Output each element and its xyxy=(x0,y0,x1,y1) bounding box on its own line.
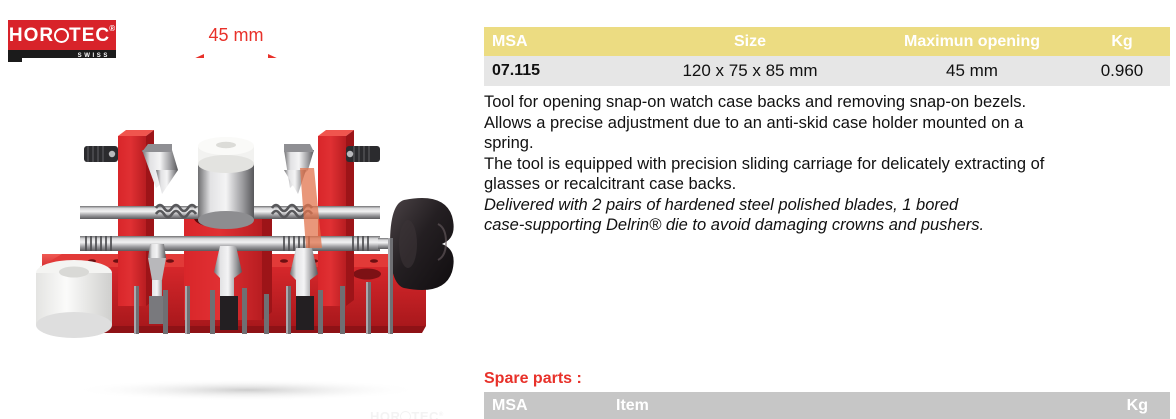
logo-red-plate: HORTEC® xyxy=(8,20,116,50)
spec-cell-kg: 0.960 xyxy=(1074,56,1170,86)
logo-wordmark: HORTEC® xyxy=(9,26,115,45)
spare-header-item: Item xyxy=(608,392,1048,419)
photo-logo-text-tec: TEC xyxy=(411,409,439,419)
description-line: The tool is equipped with precision slid… xyxy=(484,154,1170,175)
logo-text-tec: TEC xyxy=(69,25,110,46)
description-line: Tool for opening snap-on watch case back… xyxy=(484,92,1170,113)
logo-o-ring-icon xyxy=(54,28,69,43)
product-datasheet-page: HORTEC® SWISS 45 mm xyxy=(0,0,1176,419)
description-italic-line: Delivered with 2 pairs of hardened steel… xyxy=(484,195,1170,216)
spare-parts-title: Spare parts : xyxy=(484,370,582,388)
dimension-label: 45 mm xyxy=(176,24,296,46)
spare-header-msa: MSA xyxy=(484,392,608,419)
description-line: spring. xyxy=(484,133,1170,154)
description-line: glasses or recalcitrant case backs. xyxy=(484,174,1170,195)
spec-cell-maximum-opening: 45 mm xyxy=(870,56,1074,86)
spec-header-maximum-opening: Maximun opening xyxy=(870,27,1074,56)
logo-text-hor: HOR xyxy=(9,25,54,46)
spare-parts-table-wrapper: MSA Item Kg xyxy=(484,392,1170,419)
photo-logo-registered-mark: ® xyxy=(439,412,444,418)
specification-table: MSA Size Maximun opening Kg 07.115 120 x… xyxy=(484,27,1170,86)
photo-logo-text-hor: HOR xyxy=(370,409,400,419)
product-description: Tool for opening snap-on watch case back… xyxy=(484,92,1170,236)
table-row: 07.115 120 x 75 x 85 mm 45 mm 0.960 xyxy=(484,56,1170,86)
photo-logo-o-ring-icon xyxy=(400,411,411,419)
description-italic-line: case-supporting Delrin® die to avoid dam… xyxy=(484,215,1170,236)
logo-registered-mark: ® xyxy=(109,25,116,33)
spec-cell-msa: 07.115 xyxy=(484,56,630,86)
spare-parts-table: MSA Item Kg xyxy=(484,392,1170,419)
description-line: Allows a precise adjustment due to an an… xyxy=(484,113,1170,134)
spare-header-kg: Kg xyxy=(1048,392,1170,419)
spec-header-size: Size xyxy=(630,27,870,56)
spec-cell-size: 120 x 75 x 85 mm xyxy=(630,56,870,86)
table-header-row: MSA Item Kg xyxy=(484,392,1170,419)
spec-header-kg: Kg xyxy=(1074,27,1170,56)
product-photo: HORTEC® SWISS xyxy=(22,58,462,403)
product-details-panel: MSA Size Maximun opening Kg 07.115 120 x… xyxy=(484,0,1170,419)
spec-header-msa: MSA xyxy=(484,27,630,56)
table-header-row: MSA Size Maximun opening Kg xyxy=(484,27,1170,56)
specification-table-wrapper: MSA Size Maximun opening Kg 07.115 120 x… xyxy=(484,27,1170,86)
photo-logo-wordmark: HORTEC® xyxy=(370,410,456,419)
product-image-panel: HORTEC® SWISS 45 mm xyxy=(0,0,470,419)
photo-embossed-logo: HORTEC® SWISS xyxy=(370,410,456,419)
watch-case-opener-tool-illustration xyxy=(22,58,462,403)
horotec-logo: HORTEC® SWISS xyxy=(8,20,116,62)
